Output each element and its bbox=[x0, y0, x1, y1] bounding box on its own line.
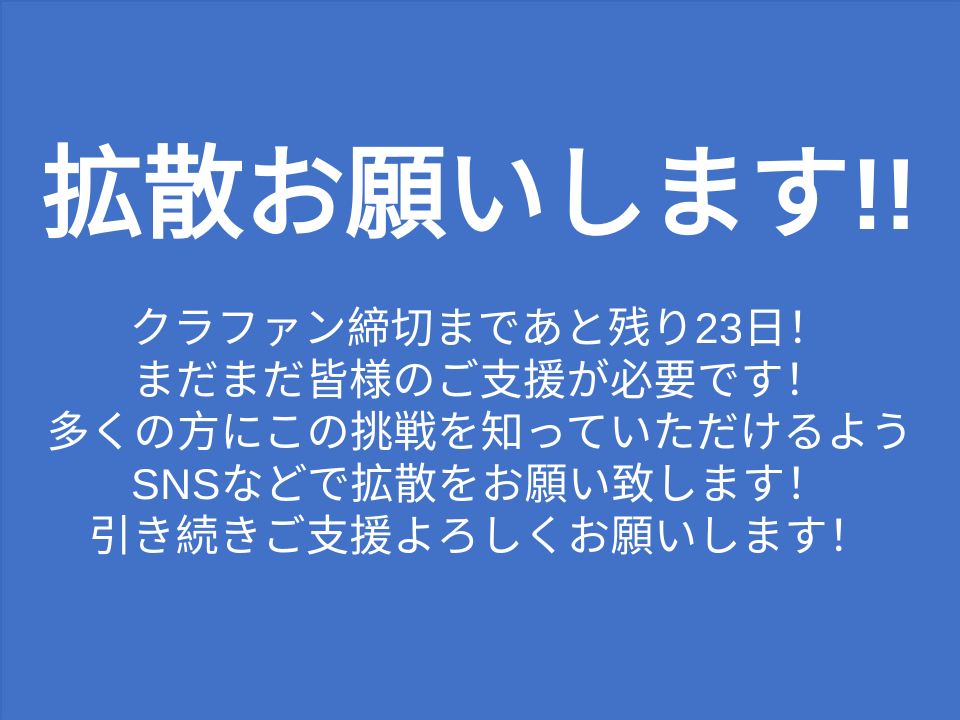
announcement-slide: 拡散お願いします!! クラファン締切まであと残り23日！ まだまだ皆様のご支援が… bbox=[0, 0, 960, 720]
body-line-2: まだまだ皆様のご支援が必要です！ bbox=[0, 355, 960, 407]
body-line-5: 引き続きご支援よろしくお願いします！ bbox=[0, 511, 960, 563]
headline-title: 拡散お願いします!! bbox=[0, 140, 960, 250]
body-line-1: クラファン締切まであと残り23日！ bbox=[0, 303, 960, 355]
body-line-4: SNSなどで拡散をお願い致します！ bbox=[0, 459, 960, 511]
body-line-3: 多くの方にこの挑戦を知っていただけるよう bbox=[0, 407, 960, 459]
body-text-block: クラファン締切まであと残り23日！ まだまだ皆様のご支援が必要です！ 多くの方に… bbox=[0, 303, 960, 563]
